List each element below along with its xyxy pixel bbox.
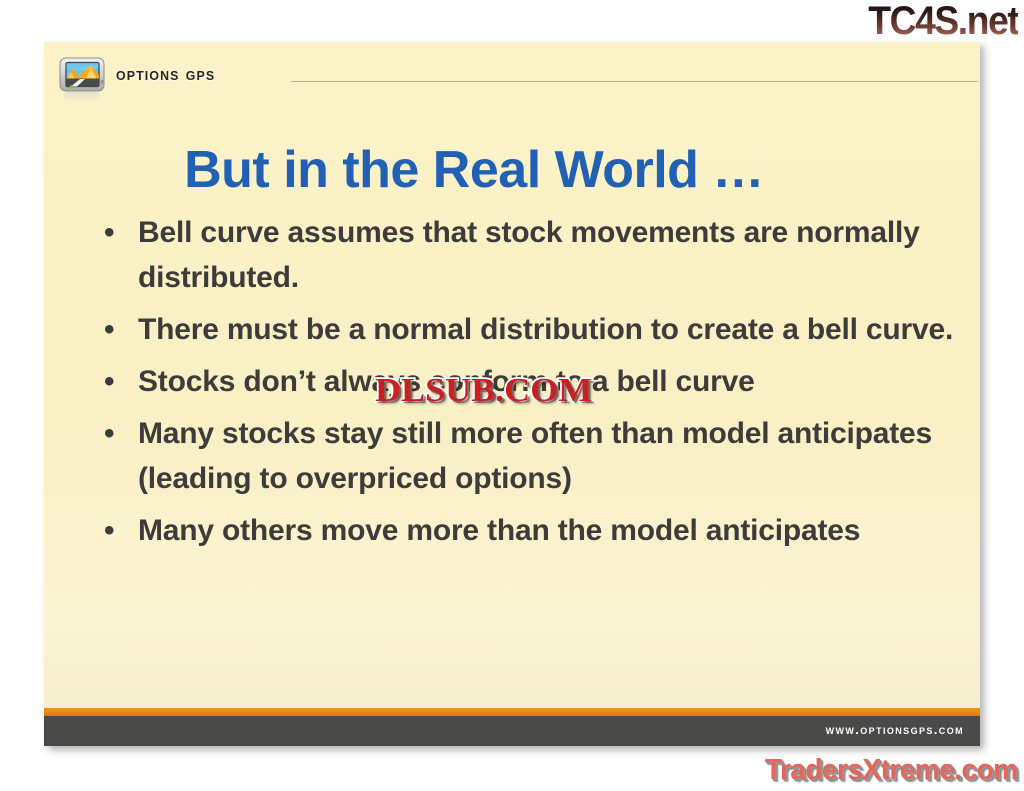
gps-device-icon xyxy=(58,56,108,104)
orange-accent-bar xyxy=(44,708,980,716)
dlsub-watermark: DLSUB.COM xyxy=(375,372,592,410)
tradersxtreme-brand-logo: TradersXtreme.com xyxy=(765,753,1018,787)
presentation-slide: Options GPS But in the Real World … • Be… xyxy=(44,42,980,746)
bullet-marker: • xyxy=(104,508,114,553)
bullet-marker: • xyxy=(104,411,114,456)
footer-url: www.OptionsGPS.com xyxy=(826,722,964,737)
bullet-text: Bell curve assumes that stock movements … xyxy=(138,210,956,300)
list-item: • Many stocks stay still more often than… xyxy=(96,411,956,501)
bullet-text: Many stocks stay still more often than m… xyxy=(138,411,956,501)
list-item: • Bell curve assumes that stock movement… xyxy=(96,210,956,300)
bullet-text: There must be a normal distribution to c… xyxy=(138,307,956,352)
list-item: • There must be a normal distribution to… xyxy=(96,307,956,352)
tc4s-brand-logo: TC4S.net xyxy=(868,0,1018,42)
slide-header: Options GPS xyxy=(44,42,980,100)
bullet-marker: • xyxy=(104,359,114,404)
bullet-text: Many others move more than the model ant… xyxy=(138,508,956,553)
bullet-marker: • xyxy=(104,210,114,255)
list-item: • Many others move more than the model a… xyxy=(96,508,956,553)
page-title: But in the Real World … xyxy=(44,139,904,201)
slide-footer-bar: www.OptionsGPS.com xyxy=(44,716,980,746)
header-divider xyxy=(291,81,978,82)
brand-label: Options GPS xyxy=(116,64,215,86)
bullet-marker: • xyxy=(104,307,114,352)
